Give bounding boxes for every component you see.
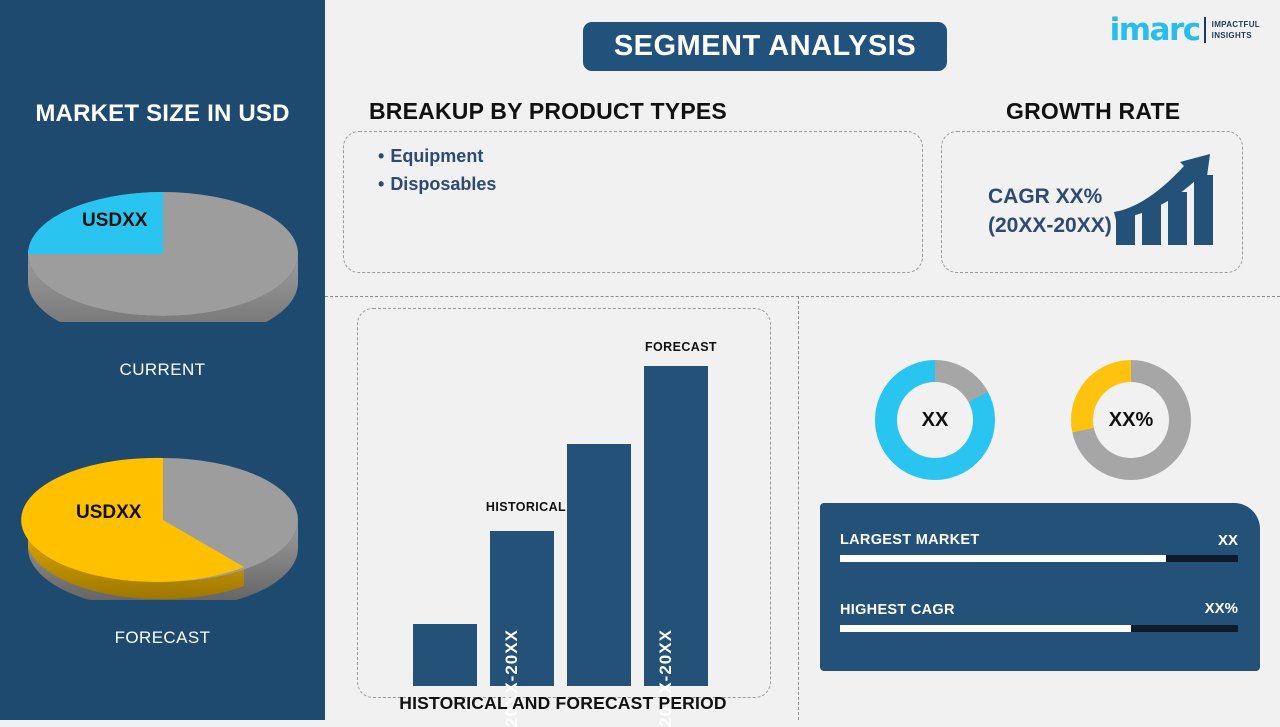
- bar-4-top-label: FORECAST: [623, 340, 739, 354]
- breakup-heading: BREAKUP BY PRODUCT TYPES: [369, 98, 727, 125]
- cagr-period: (20XX-20XX): [988, 211, 1112, 240]
- current-pie-label: CURRENT: [0, 360, 325, 380]
- logo-tagline-line-2: INSIGHTS: [1212, 31, 1252, 40]
- market-size-sidebar: MARKET SIZE IN USD USDXX CURRENT: [0, 0, 325, 720]
- horizontal-divider: [325, 296, 1280, 297]
- highest-cagr-donut-value: XX%: [1093, 382, 1169, 458]
- list-item-label: Disposables: [390, 174, 496, 194]
- forecast-pie-svg: [16, 440, 311, 600]
- bar-3: [567, 444, 631, 686]
- largest-market-donut-value: XX: [897, 382, 973, 458]
- list-item: •Equipment: [378, 146, 496, 167]
- infographic-root: MARKET SIZE IN USD USDXX CURRENT: [0, 0, 1280, 720]
- sidebar-title: MARKET SIZE IN USD: [0, 100, 325, 128]
- logo-wordmark: imarc: [1110, 15, 1200, 46]
- breakup-list: •Equipment •Disposables: [378, 146, 496, 202]
- stat-highest-cagr-fill: [840, 625, 1131, 632]
- bar-2-top-label: HISTORICAL: [475, 500, 577, 514]
- forecast-pie-label: FORECAST: [0, 628, 325, 648]
- cagr-text: CAGR XX% (20XX-20XX): [988, 182, 1112, 240]
- historical-forecast-bar-chart: HISTORICAL 20XX-20XX FORECAST 20XX-20XX …: [365, 316, 761, 686]
- page-title: SEGMENT ANALYSIS: [583, 22, 947, 71]
- stat-highest-cagr-track: [840, 625, 1238, 632]
- vertical-divider: [798, 296, 799, 720]
- bar-4: 20XX-20XX: [644, 366, 708, 686]
- stat-highest-cagr-value: XX%: [1205, 600, 1238, 617]
- main-content: SEGMENT ANALYSIS imarc IMPACTFUL INSIGHT…: [325, 0, 1280, 720]
- list-item-label: Equipment: [390, 146, 483, 166]
- bar-2: 20XX-20XX: [490, 531, 554, 686]
- key-stats-panel: LARGEST MARKET XX HIGHEST CAGR XX%: [820, 503, 1260, 671]
- bar-1: [413, 624, 477, 686]
- stat-largest-market: LARGEST MARKET XX: [840, 531, 1238, 562]
- logo-tagline: IMPACTFUL INSIGHTS: [1212, 19, 1260, 41]
- stat-largest-market-track: [840, 555, 1238, 562]
- stat-highest-cagr-label: HIGHEST CAGR: [840, 602, 955, 618]
- current-market-pie-chart: USDXX: [16, 172, 311, 322]
- imarc-logo: imarc IMPACTFUL INSIGHTS: [1110, 12, 1260, 48]
- highest-cagr-donut: XX%: [1071, 360, 1191, 480]
- bullet-icon: •: [378, 146, 384, 166]
- growth-rate-heading: GROWTH RATE: [1006, 98, 1180, 125]
- largest-market-donut: XX: [875, 360, 995, 480]
- growth-rate-box: CAGR XX% (20XX-20XX): [941, 131, 1243, 273]
- stat-largest-market-fill: [840, 555, 1166, 562]
- bullet-icon: •: [378, 174, 384, 194]
- cagr-value: CAGR XX%: [988, 182, 1112, 211]
- breakup-box: •Equipment •Disposables: [343, 131, 923, 273]
- growth-bars-arrow-icon: [1110, 150, 1220, 255]
- current-pie-svg: [16, 172, 311, 322]
- logo-divider: [1204, 17, 1206, 43]
- forecast-market-pie-chart: USDXX: [16, 440, 311, 590]
- stat-largest-market-label: LARGEST MARKET: [840, 532, 980, 548]
- stat-largest-market-value: XX: [1218, 532, 1238, 549]
- logo-tagline-line-1: IMPACTFUL: [1212, 20, 1260, 29]
- stat-highest-cagr: HIGHEST CAGR XX%: [840, 601, 1238, 632]
- chart-axis-caption: HISTORICAL AND FORECAST PERIOD: [365, 693, 761, 714]
- list-item: •Disposables: [378, 174, 496, 195]
